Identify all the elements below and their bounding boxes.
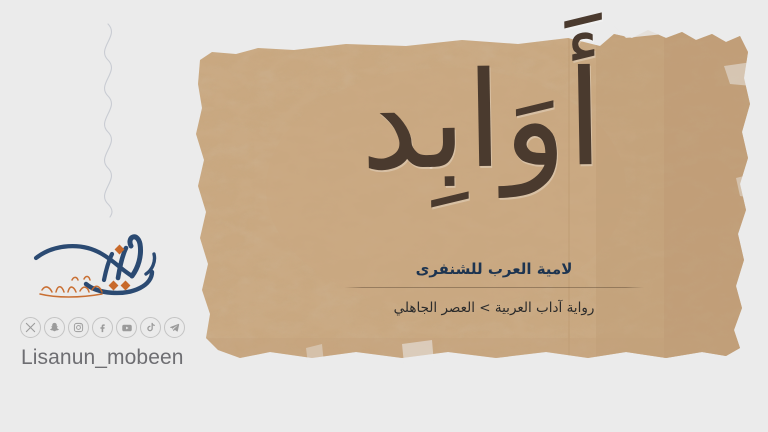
- social-links[interactable]: [20, 317, 185, 338]
- brand-logo: [28, 232, 178, 310]
- breadcrumb: رواية آداب العربية > العصر الجاهلي: [344, 299, 644, 318]
- telegram-icon[interactable]: [164, 317, 185, 338]
- left-panel: Lisanun_mobeen: [0, 0, 200, 432]
- headline-calligraphy: أَوَابِد: [196, 22, 752, 232]
- paper-card: أَوَابِد لامية العرب للشنفرى رواية آداب …: [196, 8, 752, 380]
- meta-block: لامية العرب للشنفرى رواية آداب العربية >…: [344, 260, 644, 317]
- headline-text: أَوَابِد: [359, 53, 604, 189]
- x-twitter-icon[interactable]: [20, 317, 41, 338]
- instagram-icon[interactable]: [68, 317, 89, 338]
- work-title: لامية العرب للشنفرى: [344, 260, 644, 280]
- divider: [344, 287, 644, 288]
- tiktok-icon[interactable]: [140, 317, 161, 338]
- squiggle-decoration: [86, 22, 130, 218]
- facebook-icon[interactable]: [92, 317, 113, 338]
- account-handle: Lisanun_mobeen: [21, 346, 184, 370]
- slide-canvas: أَوَابِد لامية العرب للشنفرى رواية آداب …: [0, 0, 768, 432]
- snapchat-icon[interactable]: [44, 317, 65, 338]
- youtube-icon[interactable]: [116, 317, 137, 338]
